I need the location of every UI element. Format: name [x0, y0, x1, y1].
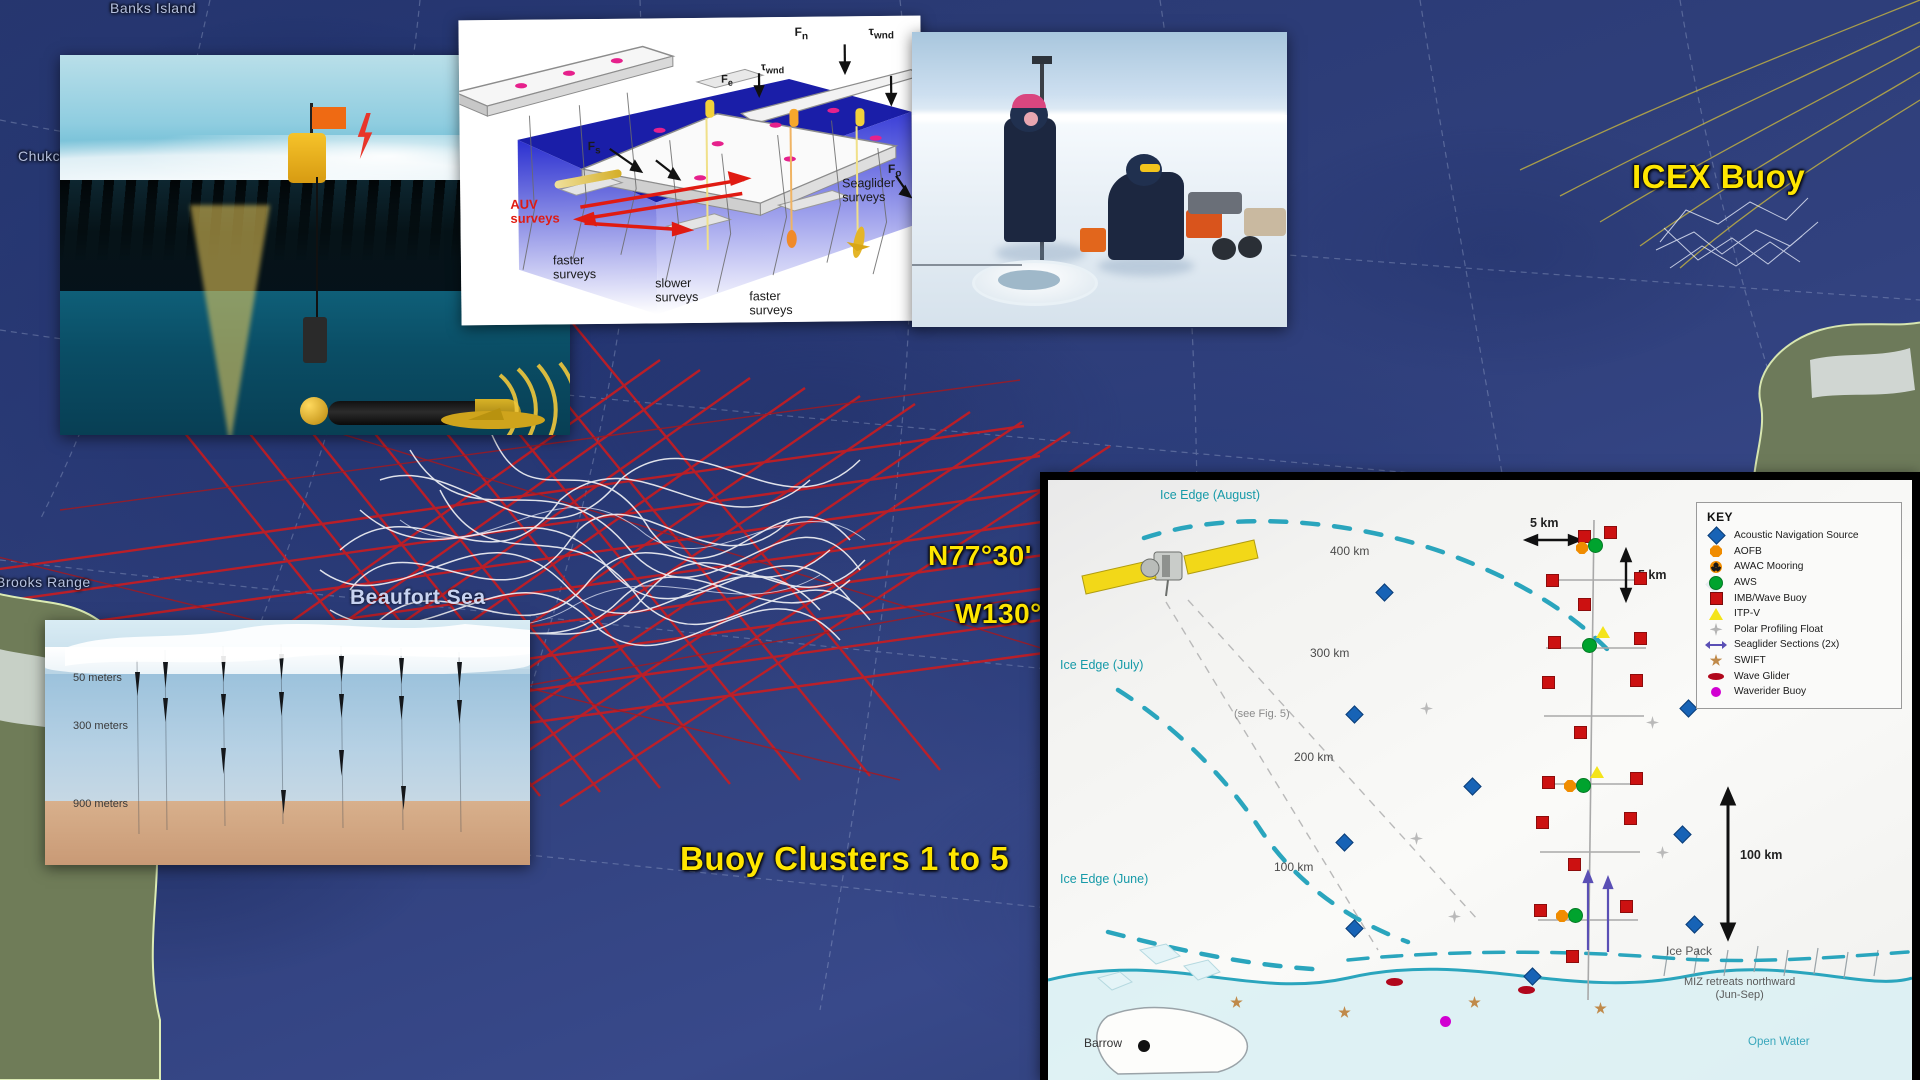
map-label-buoy-clusters: Buoy Clusters 1 to 5 [680, 840, 1009, 878]
miz-scale-100km: 100 km [1740, 848, 1782, 862]
legend-item-imb-wave-buoy: IMB/Wave Buoy [1705, 590, 1893, 606]
cable-drum-2 [1238, 236, 1262, 258]
schematic-label-faster-surveys-2: faster surveys [749, 289, 792, 318]
panel-miz-program-plan: Ice Edge (August) Ice Edge (July) Ice Ed… [1040, 472, 1920, 1080]
miz-label-ice-edge-august: Ice Edge (August) [1160, 488, 1260, 502]
schematic-label-fs: Fs [588, 139, 601, 157]
miz-label-400km: 400 km [1330, 544, 1369, 558]
legend-item-waverider-buoy: Waverider Buoy [1705, 684, 1893, 700]
safety-line [912, 264, 1022, 266]
map-label-beaufort-sea: Beaufort Sea [350, 586, 486, 610]
marker-imb-wave-buoy [1534, 904, 1547, 917]
marker-aofb [1576, 542, 1588, 554]
miz-label-100km-radius: 100 km [1274, 860, 1313, 874]
marker-imb-wave-buoy [1574, 726, 1587, 739]
panel-miz-schematic: Fn τwnd τwnd Fe Fs Fo AUV surveys fas [458, 16, 923, 326]
legend-item-swift: SWIFT [1705, 653, 1893, 669]
schematic-label-fe: Fe [721, 74, 733, 88]
marker-itp-v [1590, 766, 1604, 778]
map-label-icex-buoy: ICEX Buoy [1632, 158, 1805, 196]
panel-mooring-cross-section: 50 meters 300 meters 900 meters [45, 620, 530, 865]
green-circle-icon [1705, 576, 1727, 590]
person-1-face [1024, 112, 1038, 126]
surface-buoy [288, 133, 326, 183]
marker-aofb [1556, 910, 1568, 922]
sled [1188, 192, 1242, 214]
marker-waverider-buoy [1440, 1016, 1451, 1027]
red-square-icon [1705, 591, 1727, 605]
marker-imb-wave-buoy [1568, 858, 1581, 871]
cable-drum-1 [1212, 238, 1236, 260]
schematic-label-seaglider-surveys: Seaglider surveys [842, 176, 895, 205]
legend-item-awac-mooring: AWAC Mooring [1705, 559, 1893, 575]
map-label-banks-island: Banks Island [110, 0, 196, 16]
supply-bag [1244, 208, 1286, 236]
photo-horizon-ridge [912, 112, 1287, 122]
marker-imb-wave-buoy [1566, 950, 1579, 963]
mast-crossbar [1032, 56, 1052, 64]
tan-star-icon [1705, 654, 1727, 668]
legend-item-seaglider-sections: Seaglider Sections (2x) [1705, 637, 1893, 653]
marker-aofb [1564, 780, 1576, 792]
miz-label-300km: 300 km [1310, 646, 1349, 660]
map-label-latitude: N77°30' [928, 540, 1032, 572]
miz-note-retreat: MIZ retreats northward (Jun-Sep) [1684, 976, 1795, 1001]
gray-four-point-star-icon [1705, 622, 1727, 636]
mooring-cable [316, 177, 318, 327]
miz-label-see-fig: (see Fig. 5) [1234, 708, 1290, 720]
miz-label-ice-pack: Ice Pack [1666, 944, 1712, 958]
marker-imb-wave-buoy [1548, 636, 1561, 649]
miz-label-open-water: Open Water [1748, 1036, 1810, 1048]
legend-key-box: KEY Acoustic Navigation Source AOFB AWAC… [1696, 502, 1902, 709]
marker-imb-wave-buoy [1604, 526, 1617, 539]
awac-circle-icon [1705, 560, 1727, 574]
marker-imb-wave-buoy [1542, 776, 1555, 789]
miz-label-ice-edge-july: Ice Edge (July) [1060, 658, 1143, 672]
ice-hole [998, 270, 1060, 290]
panel-field-photo-on-ice [912, 32, 1287, 327]
orange-octagon-icon [1705, 544, 1727, 558]
glider-vehicle [438, 403, 548, 435]
marker-imb-wave-buoy [1624, 812, 1637, 825]
instrument-package [303, 317, 327, 363]
marker-imb-wave-buoy [1542, 676, 1555, 689]
marker-aws [1588, 538, 1603, 553]
marker-imb-wave-buoy [1634, 632, 1647, 645]
marker-itp-v [1596, 626, 1610, 638]
yellow-triangle-icon [1705, 607, 1727, 621]
acoustic-source-sphere [300, 397, 328, 425]
marker-wave-glider [1386, 978, 1403, 986]
blue-diamond-icon [1705, 529, 1727, 543]
marker-wave-glider [1518, 986, 1535, 994]
photo-snow-field [912, 115, 1287, 327]
acoustic-beam-cone [190, 205, 270, 435]
schematic-label-tau-wind: τwnd [868, 24, 894, 42]
legend-item-itp-v: ITP-V [1705, 606, 1893, 622]
marker-imb-wave-buoy [1630, 674, 1643, 687]
legend-item-wave-glider: Wave Glider [1705, 668, 1893, 684]
map-label-longitude: W130° [955, 598, 1042, 630]
magenta-circle-icon [1705, 685, 1727, 699]
miz-label-ice-edge-june: Ice Edge (June) [1060, 872, 1148, 886]
legend-item-aws: AWS [1705, 575, 1893, 591]
marker-imb-wave-buoy [1578, 598, 1591, 611]
orange-generator [1186, 210, 1222, 238]
marker-imb-wave-buoy [1536, 816, 1549, 829]
double-arrow-icon [1705, 638, 1727, 652]
marker-imb-wave-buoy [1630, 772, 1643, 785]
schematic-label-tau-wind-2: τwnd [761, 61, 784, 75]
marker-imb-wave-buoy [1634, 572, 1647, 585]
composite-figure: ICEX Buoy N77°30' W130° Buoy Clusters 1 … [0, 0, 1920, 1080]
schematic-label-slower-surveys: slower surveys [655, 276, 698, 305]
legend-item-acoustic-nav-source: Acoustic Navigation Source [1705, 528, 1893, 544]
person-standing [1004, 118, 1056, 242]
marker-aws [1576, 778, 1591, 793]
legend-title: KEY [1707, 510, 1893, 524]
miz-label-barrow: Barrow [1084, 1036, 1122, 1050]
legend-item-polar-profiling-float: Polar Profiling Float [1705, 622, 1893, 638]
mooring-lines-drawing [45, 620, 530, 865]
orange-equipment-case [1080, 228, 1106, 252]
marker-aws [1582, 638, 1597, 653]
marker-imb-wave-buoy [1620, 900, 1633, 913]
miz-label-200km: 200 km [1294, 750, 1333, 764]
schematic-label-fn: Fn [794, 25, 808, 43]
schematic-label-auv-surveys: AUV surveys [510, 197, 559, 225]
schematic-label-faster-surveys-1: faster surveys [553, 253, 596, 282]
buoy-flag [312, 107, 346, 129]
map-label-brooks-range: Brooks Range [0, 574, 91, 590]
marker-aws [1568, 908, 1583, 923]
legend-item-aofb: AOFB [1705, 544, 1893, 560]
miz-scale-5km-horizontal: 5 km [1530, 516, 1559, 530]
marker-imb-wave-buoy [1546, 574, 1559, 587]
photo-sky [912, 32, 1287, 121]
person-2-goggles [1140, 164, 1160, 172]
icex-drift-track [1640, 180, 1830, 290]
red-ellipse-icon [1705, 669, 1727, 683]
